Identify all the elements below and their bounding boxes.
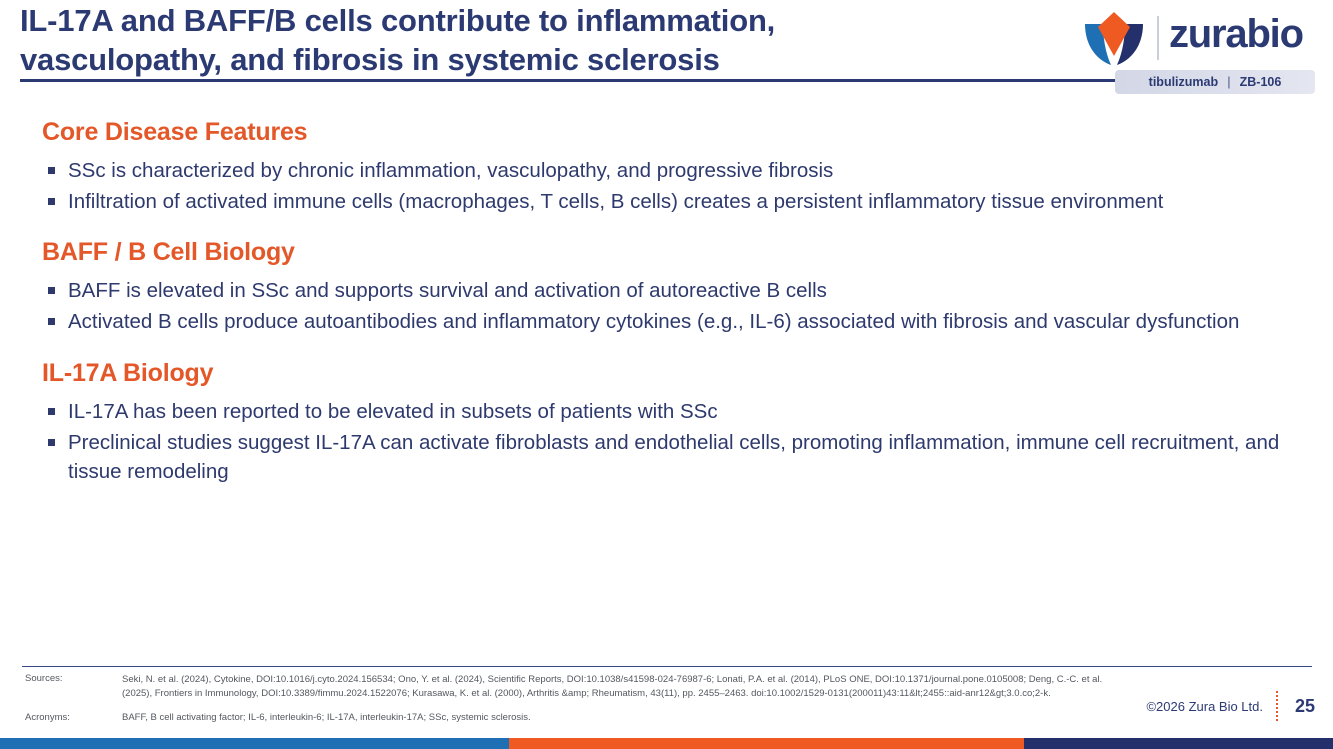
page-number: 25	[1295, 696, 1315, 717]
list-item-text: Preclinical studies suggest IL-17A can a…	[68, 431, 1279, 484]
copyright-text: ©2026 Zura Bio Ltd.	[1146, 699, 1263, 714]
bottom-bar-navy-segment	[1024, 738, 1333, 749]
slide-content: Core Disease Features SSc is characteriz…	[20, 118, 1315, 509]
list-item: Preclinical studies suggest IL-17A can a…	[20, 428, 1315, 487]
list-item-text: IL-17A has been reported to be elevated …	[68, 400, 718, 423]
page-title: IL-17A and BAFF/B cells contribute to in…	[20, 2, 1080, 80]
sources-label: Sources:	[25, 673, 63, 684]
list-item: BAFF is elevated in SSc and supports sur…	[20, 276, 1315, 306]
badge-product-code: ZB-106	[1240, 75, 1282, 89]
bullet-square-icon	[48, 198, 55, 205]
brand-block: zurabio tibulizumab | ZB-106	[1065, 8, 1325, 94]
title-underline-rule	[20, 79, 1150, 82]
bullet-square-icon	[48, 439, 55, 446]
logo-wordmark: zurabio	[1169, 10, 1303, 58]
list-item: Infiltration of activated immune cells (…	[20, 187, 1315, 217]
sources-text: Seki, N. et al. (2024), Cytokine, DOI:10…	[122, 673, 1122, 702]
list-item: IL-17A has been reported to be elevated …	[20, 397, 1315, 427]
list-item-text: SSc is characterized by chronic inflamma…	[68, 159, 833, 182]
list-item-text: Activated B cells produce autoantibodies…	[68, 310, 1239, 333]
product-badge: tibulizumab | ZB-106	[1115, 70, 1315, 94]
bullet-list: BAFF is elevated in SSc and supports sur…	[20, 276, 1315, 336]
list-item-text: Infiltration of activated immune cells (…	[68, 190, 1163, 213]
bullet-square-icon	[48, 318, 55, 325]
section-heading: BAFF / B Cell Biology	[42, 238, 1315, 267]
logo-divider	[1157, 16, 1159, 60]
bullet-list: IL-17A has been reported to be elevated …	[20, 397, 1315, 487]
badge-separator: |	[1227, 75, 1231, 89]
section-il-17a-biology: IL-17A Biology IL-17A has been reported …	[20, 359, 1315, 487]
page-number-divider	[1276, 691, 1278, 721]
footer-divider-rule	[22, 666, 1312, 667]
section-baff-b-cell-biology: BAFF / B Cell Biology BAFF is elevated i…	[20, 238, 1315, 336]
list-item: SSc is characterized by chronic inflamma…	[20, 156, 1315, 186]
slide-header: IL-17A and BAFF/B cells contribute to in…	[0, 0, 1333, 100]
bullet-square-icon	[48, 287, 55, 294]
acronyms-label: Acronyms:	[25, 712, 70, 723]
acronyms-text: BAFF, B cell activating factor; IL-6, in…	[122, 712, 1122, 723]
bottom-bar-orange-segment	[509, 738, 1024, 749]
section-heading: IL-17A Biology	[42, 359, 1315, 388]
zurabio-tulip-logo-icon	[1083, 12, 1145, 66]
section-heading: Core Disease Features	[42, 118, 1315, 147]
bullet-list: SSc is characterized by chronic inflamma…	[20, 156, 1315, 216]
bullet-square-icon	[48, 167, 55, 174]
bullet-square-icon	[48, 408, 55, 415]
badge-product-name: tibulizumab	[1149, 75, 1218, 89]
list-item-text: BAFF is elevated in SSc and supports sur…	[68, 279, 827, 302]
bottom-color-bar	[0, 738, 1333, 749]
section-core-disease-features: Core Disease Features SSc is characteriz…	[20, 118, 1315, 216]
list-item: Activated B cells produce autoantibodies…	[20, 307, 1315, 337]
bottom-bar-blue-segment	[0, 738, 509, 749]
slide-footer: Sources: Seki, N. et al. (2024), Cytokin…	[0, 663, 1333, 749]
